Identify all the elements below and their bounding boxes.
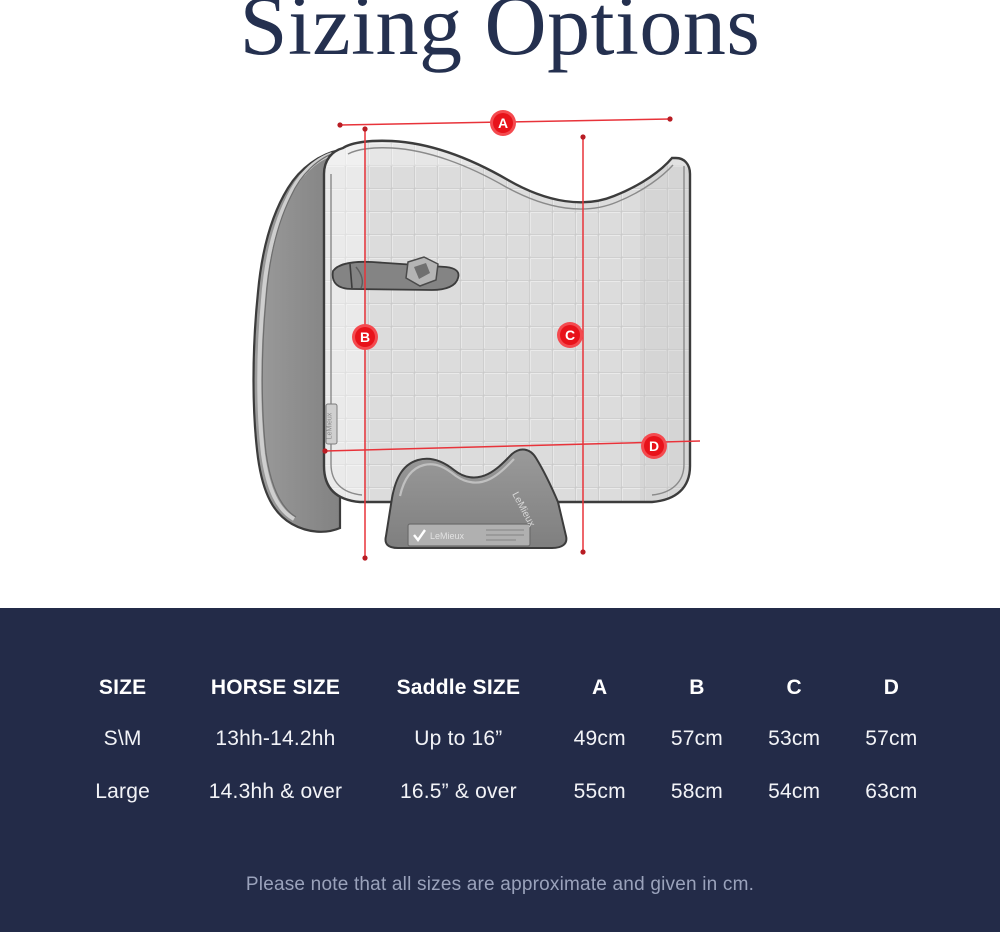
- cell-size: Large: [60, 765, 185, 818]
- pad-body: [324, 140, 696, 510]
- table-row: S\M 13hh-14.2hh Up to 16” 49cm 57cm 53cm…: [60, 712, 940, 765]
- side-label-tag: LeMieux: [326, 404, 337, 444]
- marker-badge-c: C: [557, 322, 583, 348]
- sizing-spec-panel: SIZE HORSE SIZE Saddle SIZE A B C D S\M …: [0, 608, 1000, 932]
- saddle-pad-diagram: LeMieux LeMieux LeMieux: [0, 96, 1000, 608]
- svg-text:LeMieux: LeMieux: [430, 531, 465, 541]
- sizing-options-page: Sizing Options: [0, 0, 1000, 932]
- column-header-a: A: [551, 664, 648, 712]
- cell-size: S\M: [60, 712, 185, 765]
- column-header-size: SIZE: [60, 664, 185, 712]
- svg-text:LeMieux: LeMieux: [327, 412, 334, 439]
- cell-b: 58cm: [648, 765, 745, 818]
- cell-d: 57cm: [843, 712, 940, 765]
- cell-saddle-size: Up to 16”: [366, 712, 551, 765]
- marker-badge-d: D: [641, 433, 667, 459]
- svg-text:A: A: [498, 115, 508, 131]
- saddle-pad-illustration: LeMieux LeMieux LeMieux: [0, 96, 1000, 608]
- column-header-saddle-size: Saddle SIZE: [366, 664, 551, 712]
- page-title: Sizing Options: [0, 0, 1000, 73]
- cell-c: 53cm: [746, 712, 843, 765]
- cell-d: 63cm: [843, 765, 940, 818]
- sizing-note: Please note that all sizes are approxima…: [0, 874, 1000, 896]
- column-header-d: D: [843, 664, 940, 712]
- column-header-c: C: [746, 664, 843, 712]
- column-header-horse-size: HORSE SIZE: [185, 664, 365, 712]
- cell-c: 54cm: [746, 765, 843, 818]
- svg-text:B: B: [360, 329, 370, 345]
- cell-a: 55cm: [551, 765, 648, 818]
- svg-text:D: D: [649, 438, 659, 454]
- page-header: Sizing Options: [0, 0, 1000, 96]
- cell-horse-size: 13hh-14.2hh: [185, 712, 365, 765]
- marker-badge-b: B: [352, 324, 378, 350]
- marker-badge-a: A: [490, 110, 516, 136]
- table-header-row: SIZE HORSE SIZE Saddle SIZE A B C D: [60, 664, 940, 712]
- column-header-b: B: [648, 664, 745, 712]
- cell-b: 57cm: [648, 712, 745, 765]
- cell-horse-size: 14.3hh & over: [185, 765, 365, 818]
- cell-a: 49cm: [551, 712, 648, 765]
- sizing-table: SIZE HORSE SIZE Saddle SIZE A B C D S\M …: [60, 664, 940, 818]
- girth-strap-keeper: [333, 262, 459, 290]
- table-row: Large 14.3hh & over 16.5” & over 55cm 58…: [60, 765, 940, 818]
- cell-saddle-size: 16.5” & over: [366, 765, 551, 818]
- svg-text:C: C: [565, 327, 575, 343]
